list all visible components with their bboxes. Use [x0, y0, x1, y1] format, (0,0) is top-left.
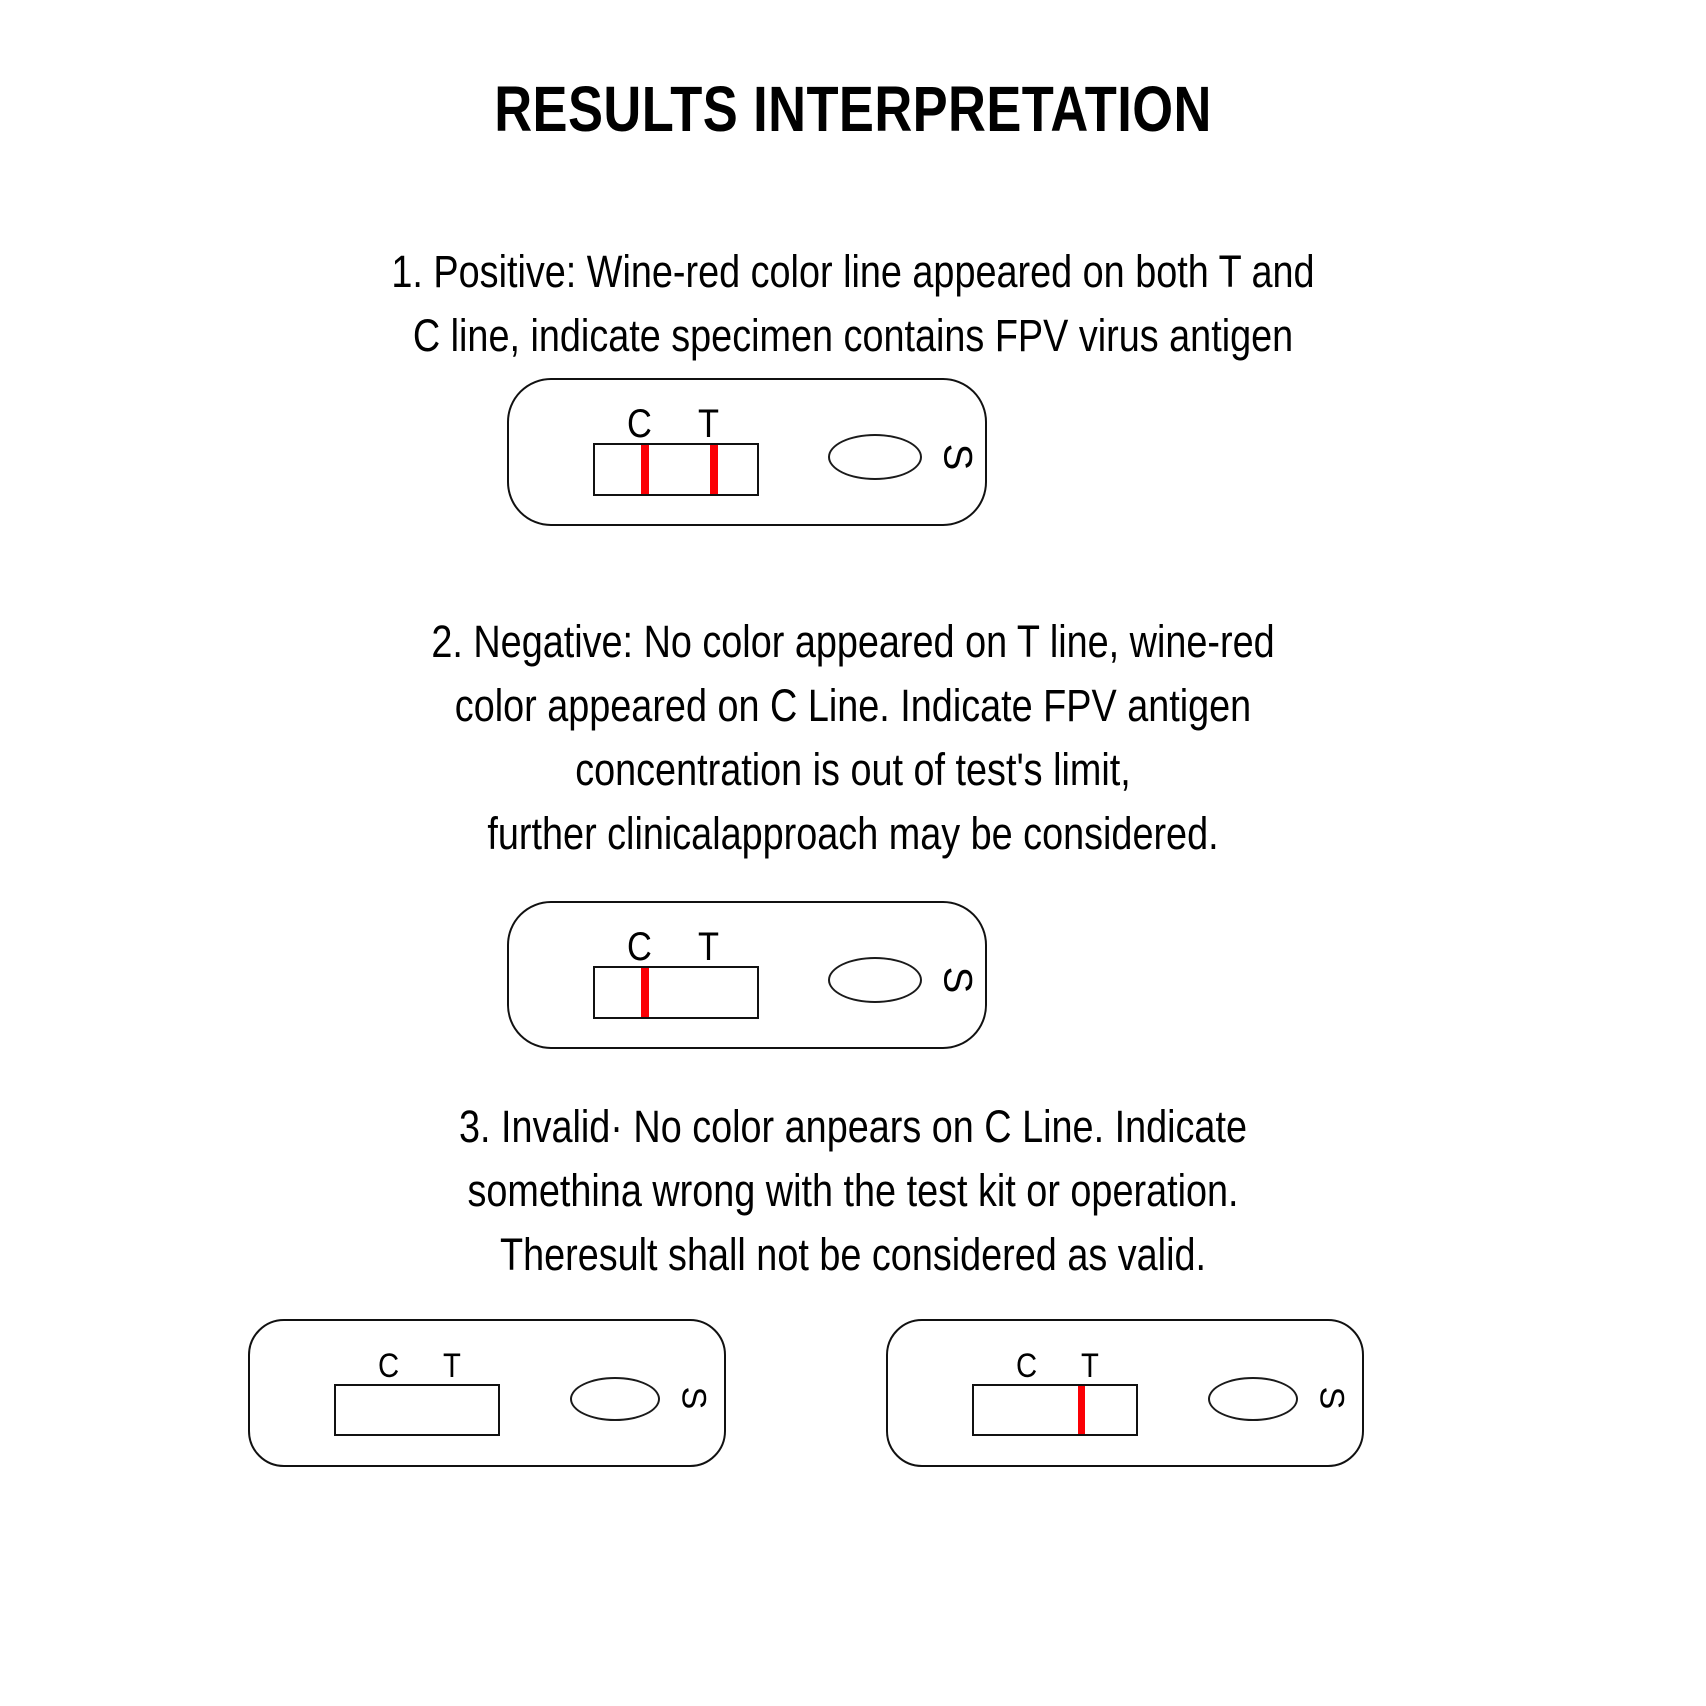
- negative-cassette-t-label: T: [698, 927, 719, 967]
- page-title: RESULTS INTERPRETATION: [154, 72, 1553, 146]
- invalid-cassette-left-result-window: [334, 1384, 500, 1436]
- paragraph-invalid-line-1: 3. Invalid· No color anpears on C Line. …: [136, 1095, 1569, 1159]
- negative-cassette-c-label: C: [627, 927, 652, 967]
- positive-cassette: C T S: [507, 378, 987, 526]
- positive-cassette-result-window: [593, 443, 759, 496]
- invalid-cassette-right-t-label: T: [1081, 1349, 1099, 1383]
- invalid-cassette-left: C T S: [248, 1319, 726, 1467]
- invalid-cassette-left-s-label: S: [676, 1387, 710, 1410]
- paragraph-negative-line-4: further clinicalapproach may be consider…: [136, 802, 1569, 866]
- paragraph-negative-line-2: color appeared on C Line. Indicate FPV a…: [136, 674, 1569, 738]
- paragraph-invalid-line-3: Theresult shall not be considered as val…: [136, 1223, 1569, 1287]
- positive-cassette-t-label: T: [698, 404, 719, 444]
- negative-cassette-s-label: S: [937, 967, 977, 994]
- invalid-cassette-left-t-label: T: [443, 1349, 461, 1383]
- paragraph-negative: 2. Negative: No color appeared on T line…: [136, 610, 1569, 866]
- negative-cassette-control-band: [641, 968, 649, 1017]
- negative-cassette: C T S: [507, 901, 987, 1049]
- invalid-cassette-right: C T S: [886, 1319, 1364, 1467]
- negative-cassette-sample-well: [828, 957, 922, 1003]
- invalid-cassette-right-s-label: S: [1314, 1387, 1348, 1410]
- positive-cassette-control-band: [641, 445, 649, 494]
- invalid-cassette-right-result-window: [972, 1384, 1138, 1436]
- paragraph-invalid-line-2: somethina wrong with the test kit or ope…: [136, 1159, 1569, 1223]
- invalid-cassette-left-c-label: C: [378, 1349, 399, 1383]
- positive-cassette-s-label: S: [937, 444, 977, 471]
- positive-cassette-sample-well: [828, 434, 922, 480]
- invalid-cassette-left-sample-well: [570, 1377, 660, 1421]
- negative-cassette-result-window: [593, 966, 759, 1019]
- paragraph-positive: 1. Positive: Wine-red color line appeare…: [136, 240, 1569, 368]
- paragraph-positive-line-1: 1. Positive: Wine-red color line appeare…: [136, 240, 1569, 304]
- paragraph-positive-line-2: C line, indicate specimen contains FPV v…: [136, 304, 1569, 368]
- positive-cassette-test-band: [710, 445, 718, 494]
- paragraph-invalid: 3. Invalid· No color anpears on C Line. …: [136, 1095, 1569, 1287]
- positive-cassette-c-label: C: [627, 404, 652, 444]
- paragraph-negative-line-3: concentration is out of test's limit,: [136, 738, 1569, 802]
- invalid-cassette-right-c-label: C: [1016, 1349, 1037, 1383]
- invalid-cassette-right-test-band: [1078, 1386, 1085, 1434]
- paragraph-negative-line-1: 2. Negative: No color appeared on T line…: [136, 610, 1569, 674]
- invalid-cassette-right-sample-well: [1208, 1377, 1298, 1421]
